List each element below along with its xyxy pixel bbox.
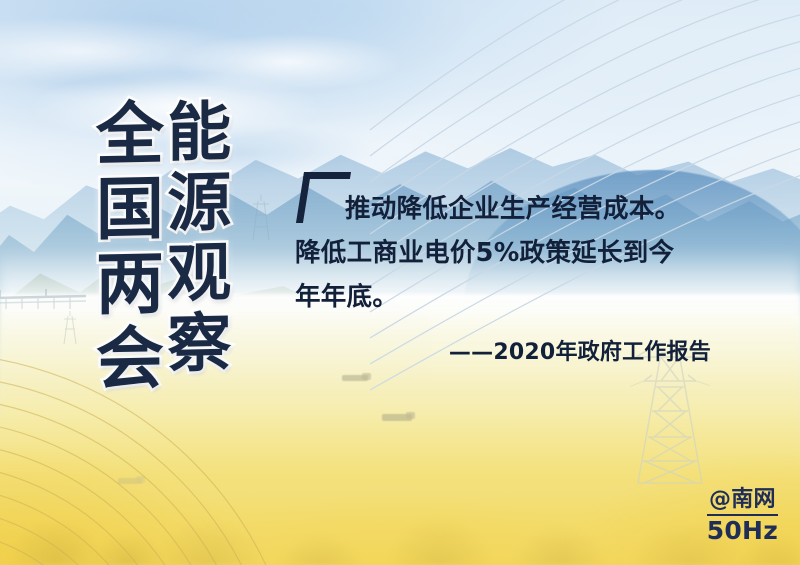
- river-boat: [342, 375, 368, 381]
- quote-line: 推动降低企业生产经营成本。: [345, 194, 680, 224]
- quote-line: 年年底。: [295, 282, 398, 312]
- quote-block: 推动降低企业生产经营成本。 降低工商业电价5%政策延长到今 年年底。 ——202…: [295, 172, 715, 366]
- river-boat: [118, 478, 142, 484]
- quote-text: 推动降低企业生产经营成本。 降低工商业电价5%政策延长到今 年年底。: [295, 172, 715, 320]
- calligraphy-column-primary: 全国两会: [88, 97, 157, 398]
- calligraphy-column-secondary: 能源观察: [161, 97, 226, 380]
- brand-name-label: @南网: [707, 489, 778, 511]
- quote-line: 降低工商业电价5%政策延长到今: [295, 238, 674, 268]
- transmission-tower-icon: [63, 311, 77, 345]
- brand-frequency-label: 50Hz: [707, 518, 778, 543]
- brand-watermark: @南网 50Hz: [707, 489, 778, 543]
- opening-quote-bracket-icon: [296, 172, 351, 223]
- river-bridge: [0, 287, 86, 313]
- calligraphy-title: 能源观察 全国两会: [88, 98, 227, 397]
- quote-attribution: ——2020年政府工作报告: [295, 334, 715, 366]
- river-boat: [382, 414, 412, 421]
- poster-canvas: 能源观察 全国两会 推动降低企业生产经营成本。 降低工商业电价5%政策延长到今 …: [0, 0, 800, 565]
- transmission-tower-icon: [252, 195, 270, 241]
